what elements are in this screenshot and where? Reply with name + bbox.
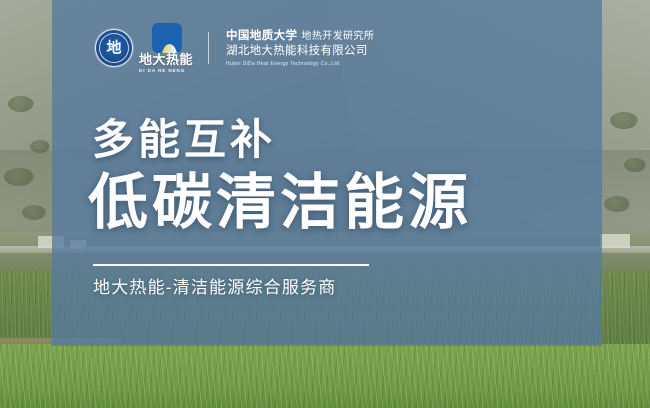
rainbow-mark-icon [152, 23, 182, 53]
university-seal-icon: 地 [95, 29, 133, 67]
headline-rule [93, 264, 369, 266]
logo-divider [208, 32, 209, 64]
shrub [8, 96, 34, 112]
shrub [610, 112, 638, 129]
headline-main: 低碳清洁能源 [88, 173, 472, 233]
promo-banner: 地 地大热能 DI DA RE NENG 中国地质大学地热开发研究所 湖北地大热… [0, 0, 650, 408]
shrub [624, 158, 646, 172]
shrub [22, 205, 46, 220]
org-line-1: 中国地质大学地热开发研究所 [226, 30, 374, 43]
brand-name-cn: 地大热能 [139, 53, 193, 66]
org-company-name-en: Hubei DiDa Heat Energy Technology Co.,Lt… [226, 61, 374, 67]
brand-mark-group: 地大热能 DI DA RE NENG [141, 23, 193, 74]
grass-layer [0, 344, 650, 408]
org-institute-name: 地热开发研究所 [301, 31, 374, 42]
org-university-name: 中国地质大学 [226, 30, 297, 42]
shrub [30, 140, 50, 153]
building [600, 234, 630, 248]
shrub [604, 196, 630, 212]
logo-lockup: 地 地大热能 DI DA RE NENG 中国地质大学地热开发研究所 湖北地大热… [95, 23, 374, 74]
seal-glyph: 地 [96, 41, 132, 56]
org-company-name: 湖北地大热能科技有限公司 [226, 45, 374, 58]
shrub [4, 168, 34, 186]
brand-wordmark: 地大热能 DI DA RE NENG [139, 53, 193, 74]
headline-tagline: 地大热能-清洁能源综合服务商 [93, 278, 336, 298]
brand-name-pinyin: DI DA RE NENG [139, 69, 193, 74]
organization-text: 中国地质大学地热开发研究所 湖北地大热能科技有限公司 Hubei DiDa He… [226, 30, 374, 66]
headline-kicker: 多能互补 [92, 119, 276, 161]
